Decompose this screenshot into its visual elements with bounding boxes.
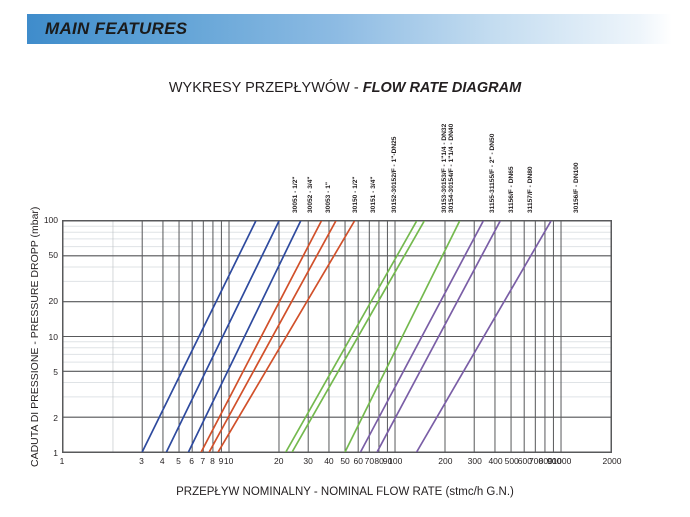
x-tick-label: 5 xyxy=(176,456,181,466)
plot-svg xyxy=(63,221,611,452)
y-axis-title: CADUTA DI PRESSIONE - PRESSURE DROPP (mb… xyxy=(29,217,41,467)
series-label: 31156/F - DN65 xyxy=(508,166,515,213)
x-tick-label: 300 xyxy=(468,456,482,466)
x-tick-label: 40 xyxy=(324,456,333,466)
x-tick-label: 1000 xyxy=(552,456,571,466)
x-tick-label: 70 xyxy=(365,456,374,466)
x-tick-label: 200 xyxy=(438,456,452,466)
page-root: MAIN FEATURES WYKRESY PRZEPŁYWÓW - FLOW … xyxy=(0,0,690,517)
series-label: 30052 - 3/4" xyxy=(307,177,314,214)
x-tick-label: 30 xyxy=(303,456,312,466)
series-label: 30151 - 3/4" xyxy=(370,177,377,214)
series-label: 30152-30152/F - 1"-DN25 xyxy=(391,137,398,213)
plot-area xyxy=(62,220,612,453)
x-tick-label: 6 xyxy=(189,456,194,466)
series-label: 31155-31155/F - 2" - DN50 xyxy=(489,134,496,213)
x-tick-label: 1 xyxy=(60,456,65,466)
x-tick-label: 400 xyxy=(488,456,502,466)
x-tick-label: 20 xyxy=(274,456,283,466)
series-label: 30156/F - DN100 xyxy=(573,162,580,213)
x-tick-label: 60 xyxy=(354,456,363,466)
x-tick-label: 8 xyxy=(210,456,215,466)
series-label: 30150 - 1/2" xyxy=(352,177,359,214)
chart-title-polish: WYKRESY PRZEPŁYWÓW - xyxy=(169,80,363,96)
flow-rate-chart: WYKRESY PRZEPŁYWÓW - FLOW RATE DIAGRAM 1… xyxy=(0,0,690,517)
x-tick-label: 9 xyxy=(219,456,224,466)
x-tick-label: 10 xyxy=(224,456,233,466)
chart-title: WYKRESY PRZEPŁYWÓW - FLOW RATE DIAGRAM xyxy=(0,80,690,96)
x-tick-label: 2000 xyxy=(603,456,622,466)
chart-title-english: FLOW RATE DIAGRAM xyxy=(363,80,521,96)
x-tick-label: 3 xyxy=(139,456,144,466)
series-label: 30154-30154/F - 1"1/4 - DN40 xyxy=(448,124,455,213)
x-tick-label: 4 xyxy=(160,456,165,466)
x-tick-label: 500 xyxy=(505,456,519,466)
x-axis-title: PRZEPŁYW NOMINALNY - NOMINAL FLOW RATE (… xyxy=(0,486,690,498)
x-tick-label: 100 xyxy=(388,456,402,466)
series-label: 30053 - 1" xyxy=(325,182,332,213)
x-tick-label: 50 xyxy=(340,456,349,466)
series-label: 30051 - 1/2" xyxy=(292,177,299,214)
x-tick-label: 7 xyxy=(200,456,205,466)
series-label: 31157/F - DN80 xyxy=(527,166,534,213)
